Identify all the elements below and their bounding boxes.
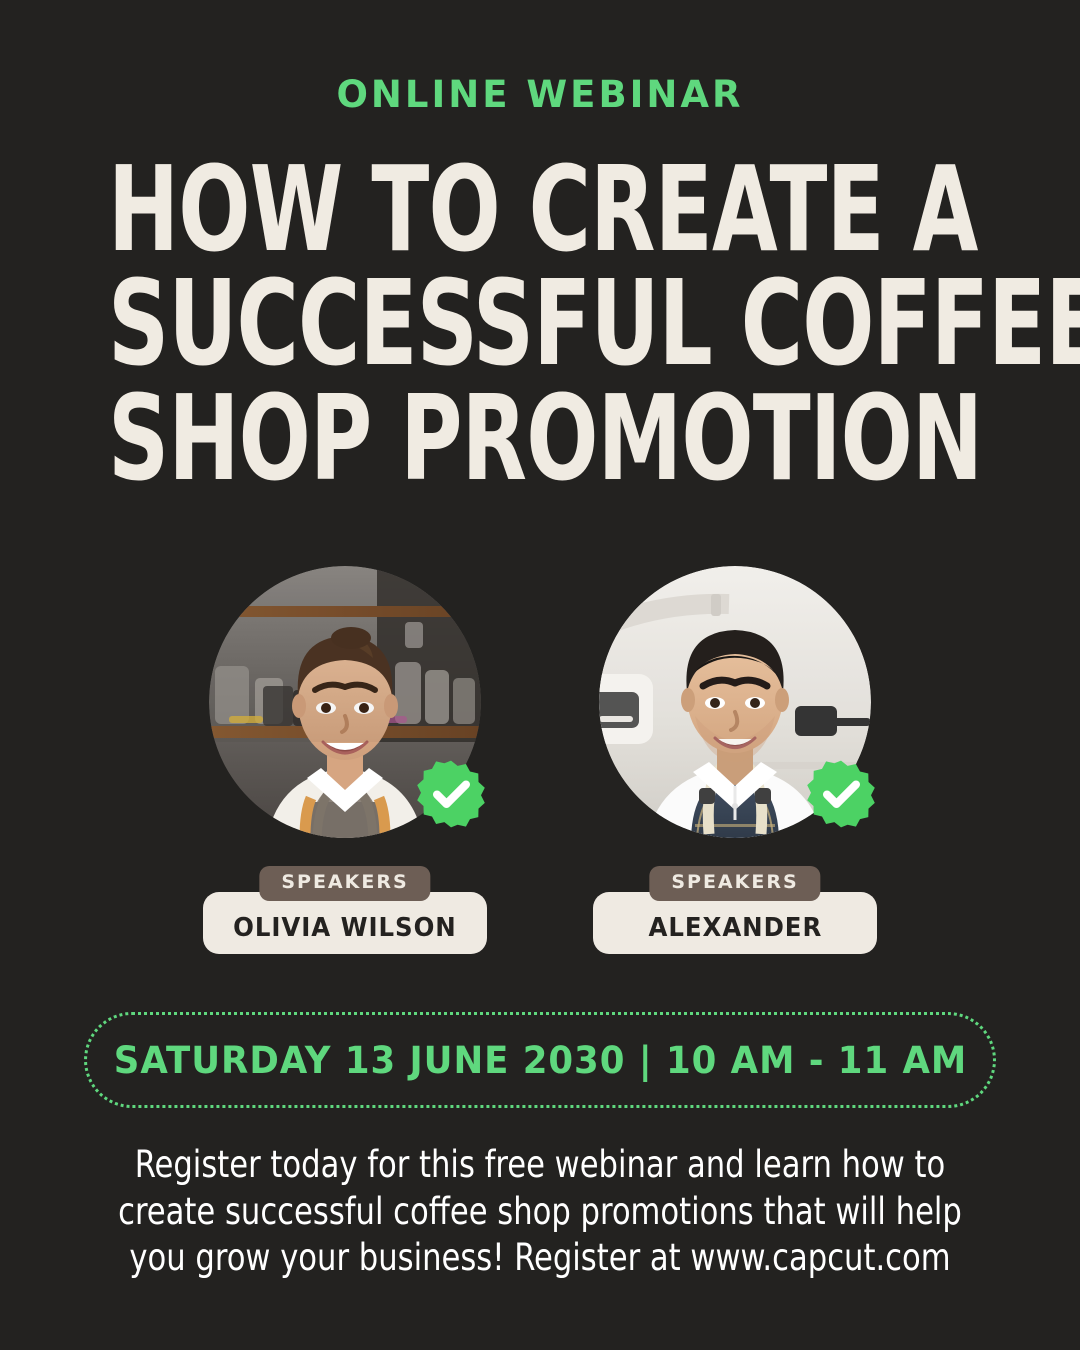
body-line-2: create successful coffee shop promotions… — [43, 1189, 1037, 1236]
speaker-card-alexander: SPEAKERS ALEXANDER — [599, 566, 871, 954]
speaker-name: OLIVIA WILSON — [233, 915, 457, 941]
eyebrow-label: ONLINE WEBINAR — [0, 76, 1080, 113]
verified-check-icon — [805, 758, 877, 830]
title-line-3: SHOP PROMOTION — [108, 381, 972, 495]
body-line-3: you grow your business! Register at www.… — [43, 1235, 1037, 1282]
speakers-tag: SPEAKERS — [649, 866, 820, 901]
webinar-poster: ONLINE WEBINAR HOW TO CREATE A SUCCESSFU… — [0, 0, 1080, 1350]
verified-check-icon — [415, 758, 487, 830]
title-line-2: SUCCESSFUL COFFEE — [108, 266, 972, 380]
speaker-card-olivia-wilson: SPEAKERS OLIVIA WILSON — [209, 566, 481, 954]
date-time-banner: SATURDAY 13 JUNE 2030 | 10 AM - 11 AM — [84, 1012, 996, 1108]
body-line-1: Register today for this free webinar and… — [43, 1142, 1037, 1189]
speaker-nameplate: SPEAKERS OLIVIA WILSON — [203, 892, 487, 954]
date-time-text: SATURDAY 13 JUNE 2030 | 10 AM - 11 AM — [113, 1042, 966, 1079]
page-title: HOW TO CREATE A SUCCESSFUL COFFEE SHOP P… — [0, 152, 1080, 495]
speakers-row: SPEAKERS OLIVIA WILSON — [0, 566, 1080, 954]
avatar-wrap — [599, 566, 871, 838]
speakers-tag: SPEAKERS — [259, 866, 430, 901]
speaker-nameplate: SPEAKERS ALEXANDER — [593, 892, 877, 954]
registration-description: Register today for this free webinar and… — [0, 1142, 1080, 1282]
speaker-name: ALEXANDER — [648, 915, 822, 941]
avatar-wrap — [209, 566, 481, 838]
title-line-1: HOW TO CREATE A — [108, 152, 972, 266]
